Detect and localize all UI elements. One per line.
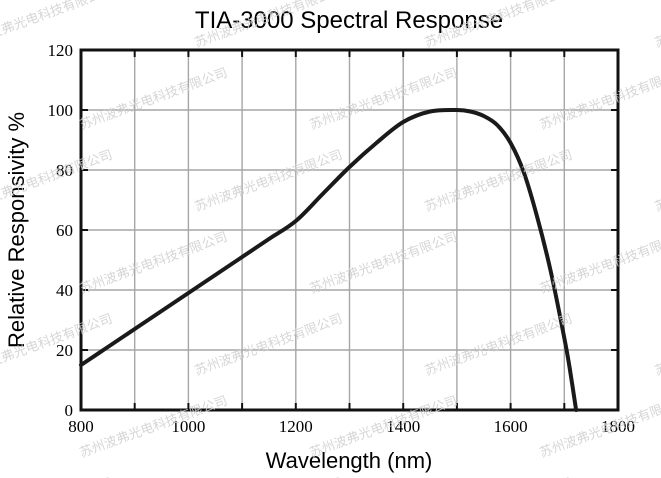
y-tick-label: 80 (56, 161, 73, 180)
chart-figure: 苏州波弗光电科技有限公司苏州波弗光电科技有限公司苏州波弗光电科技有限公司苏州波弗… (0, 0, 661, 478)
y-tick-label: 120 (48, 41, 74, 60)
x-tick-label: 1000 (171, 417, 205, 436)
y-tick-label: 100 (48, 101, 74, 120)
y-tick-label: 20 (56, 341, 73, 360)
response-curve (81, 110, 576, 410)
y-tick-label: 0 (65, 401, 74, 420)
x-tick-label: 1400 (386, 417, 420, 436)
chart-title: TIA-3000 Spectral Response (195, 7, 503, 34)
y-axis-label: Relative Responsivity % (4, 112, 29, 348)
y-tick-label: 60 (56, 221, 73, 240)
spectral-response-chart: 80010001200140016001800 020406080100120 … (0, 0, 661, 478)
x-axis-label: Wavelength (nm) (266, 448, 433, 473)
x-tick-labels: 80010001200140016001800 (68, 417, 635, 436)
y-tick-label: 40 (56, 281, 73, 300)
x-tick-label: 1600 (494, 417, 528, 436)
x-tick-label: 1200 (279, 417, 313, 436)
x-tick-label: 1800 (601, 417, 635, 436)
y-tick-labels: 020406080100120 (48, 41, 74, 420)
